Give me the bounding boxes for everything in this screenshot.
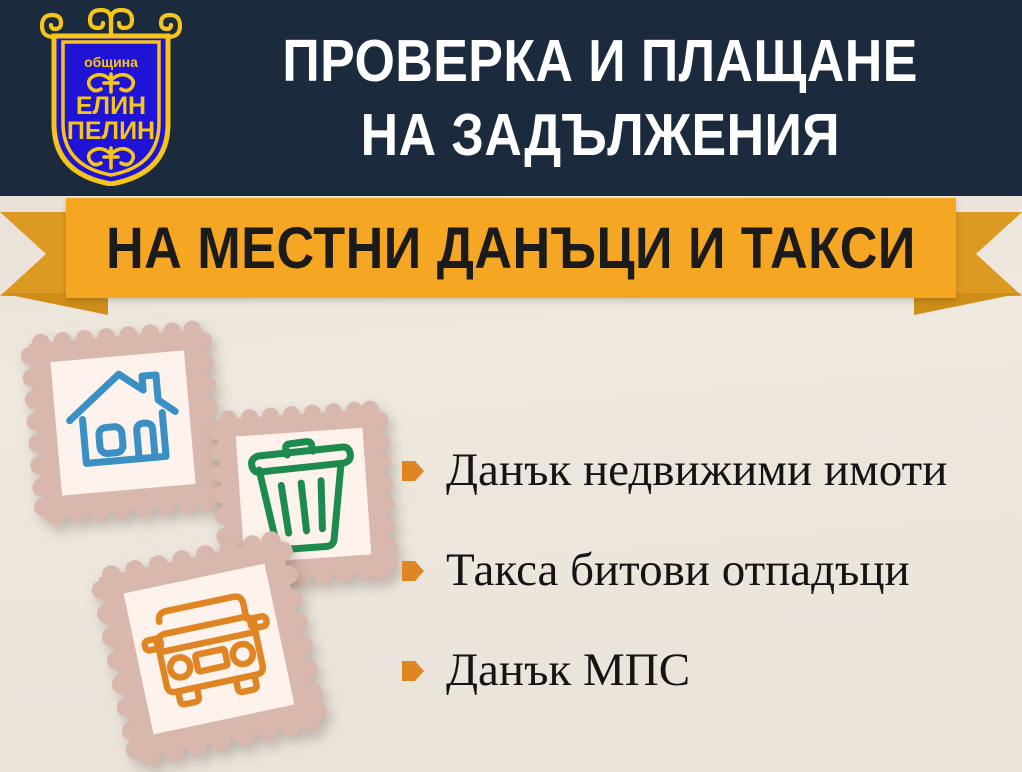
page-title-line-2: НА ЗАДЪЛЖЕНИЯ (360, 98, 839, 172)
coat-of-arms-icon: община ЕЛИН ПЕЛИН (40, 6, 182, 186)
ribbon-band: НА МЕСТНИ ДАНЪЦИ И ТАКСИ (66, 198, 956, 298)
stamp-vehicle-tax (84, 524, 334, 772)
list-item[interactable]: Такса битови отпадъци (402, 520, 1016, 620)
list-item-label: Данък МПС (446, 647, 690, 694)
list-item[interactable]: Данък МПС (402, 620, 1016, 720)
page-title-line-1: ПРОВЕРКА И ПЛАЩАНЕ (282, 24, 917, 98)
poster-canvas: ПРОВЕРКА И ПЛАЩАНЕ НА ЗАДЪЛЖЕНИЯ община (0, 0, 1022, 772)
list-item[interactable]: Данък недвижими имоти (402, 420, 1016, 520)
logo-line-main-2: ПЕЛИН (67, 117, 155, 145)
tax-type-list: Данък недвижими имоти Такса битови отпад… (402, 420, 1016, 720)
logo-line-small: община (84, 54, 138, 70)
list-item-label: Такса битови отпадъци (446, 547, 910, 594)
logo-line-main-1: ЕЛИН (76, 92, 146, 120)
arrow-bullet-icon (402, 458, 424, 484)
arrow-bullet-icon (402, 658, 424, 684)
stamp-vehicle-graphic (84, 524, 334, 772)
municipality-logo: община ЕЛИН ПЕЛИН (40, 6, 182, 186)
header-title-block: ПРОВЕРКА И ПЛАЩАНЕ НА ЗАДЪЛЖЕНИЯ (178, 0, 1022, 196)
list-item-label: Данък недвижими имоти (446, 447, 947, 494)
ribbon-banner: НА МЕСТНИ ДАНЪЦИ И ТАКСИ (0, 198, 1022, 308)
ribbon-label: НА МЕСТНИ ДАНЪЦИ И ТАКСИ (106, 215, 916, 282)
arrow-bullet-icon (402, 558, 424, 584)
